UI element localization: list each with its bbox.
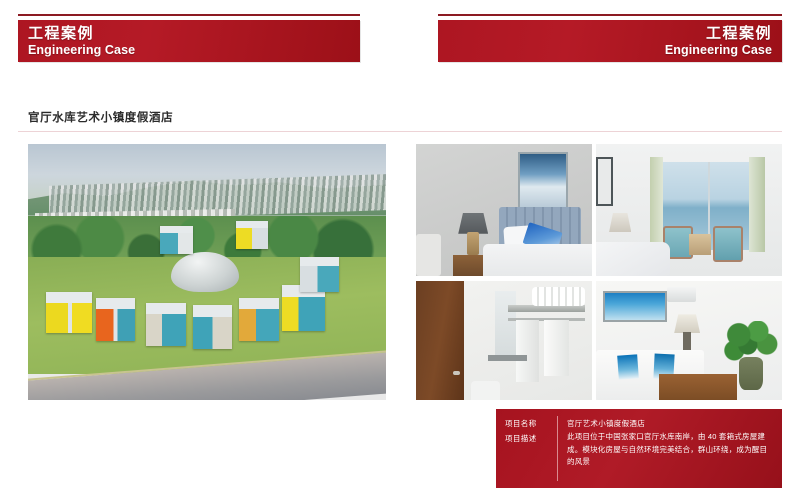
project-description-label: 项目描述 [505,431,557,446]
side-table [689,234,711,255]
wall-artwork [518,152,568,209]
air-conditioner [667,287,697,302]
project-info-values: 官厅艺术小镇度假酒店 此项目位于中国张家口官厅水库南岸，由 40 套箱式房屋建成… [558,416,782,481]
container-cabin [300,257,339,293]
wall-frame [596,157,613,206]
cabin-roof [146,303,185,314]
armchair [416,234,441,276]
cabin-body [282,297,325,331]
curtain-right [749,157,766,252]
door-handle-icon [453,371,460,375]
cabin-roof [300,257,339,266]
title-divider [18,131,782,132]
banner-title-en-right: Engineering Case [665,42,772,57]
cabin-roof [193,305,232,316]
banner-title-cn-left: 工程案例 [28,25,135,43]
banner-box-left: 工程案例 Engineering Case [18,20,360,62]
project-name-label: 项目名称 [505,416,557,431]
rolled-towels [532,287,585,306]
banner-title-cn-right: 工程案例 [665,25,772,43]
header-banner-left: 工程案例 Engineering Case [18,14,360,62]
guest-bedroom-photo [416,144,592,276]
aerial-view-photo [28,144,386,400]
header-banner-right: 工程案例 Engineering Case [438,14,782,62]
bathrobe-left [516,320,539,382]
vanity-counter [488,355,527,361]
lake-view-bedroom-photo [596,144,782,276]
curtain-left [650,157,663,252]
bathroom-photo [416,281,592,400]
cabin-body [193,317,232,349]
wooden-door [416,281,464,400]
lamp-shade [674,314,700,333]
container-cabin [236,221,268,249]
cabin-roof [236,221,268,228]
lamp-base [467,232,479,254]
bed [483,244,592,276]
living-room-photo [596,281,782,400]
container-cabin [96,298,135,342]
container-cabin [193,305,232,349]
project-info-panel: 项目名称 项目描述 官厅艺术小镇度假酒店 此项目位于中国张家口官厅水库南岸，由 … [496,409,782,488]
mirror [495,291,516,356]
banner-rule-right [438,14,782,16]
cabin-body [160,233,192,254]
bathrobe-right [544,320,569,376]
banner-title-en-left: Engineering Case [28,42,135,57]
project-description-value: 此项目位于中国张家口官厅水库南岸，由 40 套箱式房屋建成。模块化房屋与自然环境… [567,431,774,469]
toilet [471,381,501,400]
banner-rule-left [18,14,360,16]
cabin-roof [239,298,278,309]
lamp-shade [458,213,488,234]
container-cabin [46,292,93,333]
wall-artwork [603,291,667,322]
banner-box-right: 工程案例 Engineering Case [438,20,782,62]
cabin-body [300,266,339,293]
armchair-right [713,226,743,262]
cabin-roof [46,292,93,303]
container-cabin [160,226,192,254]
project-name-value: 官厅艺术小镇度假酒店 [567,416,774,431]
cabin-body [146,314,185,346]
cabin-roof [96,298,135,309]
cabin-roof [160,226,192,233]
container-cabin [146,303,185,347]
page-title: 官厅水库艺术小镇度假酒店 [28,109,173,125]
project-info-labels: 项目名称 项目描述 [496,416,558,481]
coffee-table [659,374,737,400]
container-cabin [239,298,278,342]
bed [596,242,670,276]
cabin-body [46,303,93,333]
plant-vase [739,357,763,390]
banner-text-right: 工程案例 Engineering Case [665,25,772,57]
blue-cushion-left [618,354,640,379]
cabin-body [96,309,135,341]
cabin-body [236,228,268,249]
banner-text-left: 工程案例 Engineering Case [28,25,135,57]
cabin-body [239,309,278,341]
